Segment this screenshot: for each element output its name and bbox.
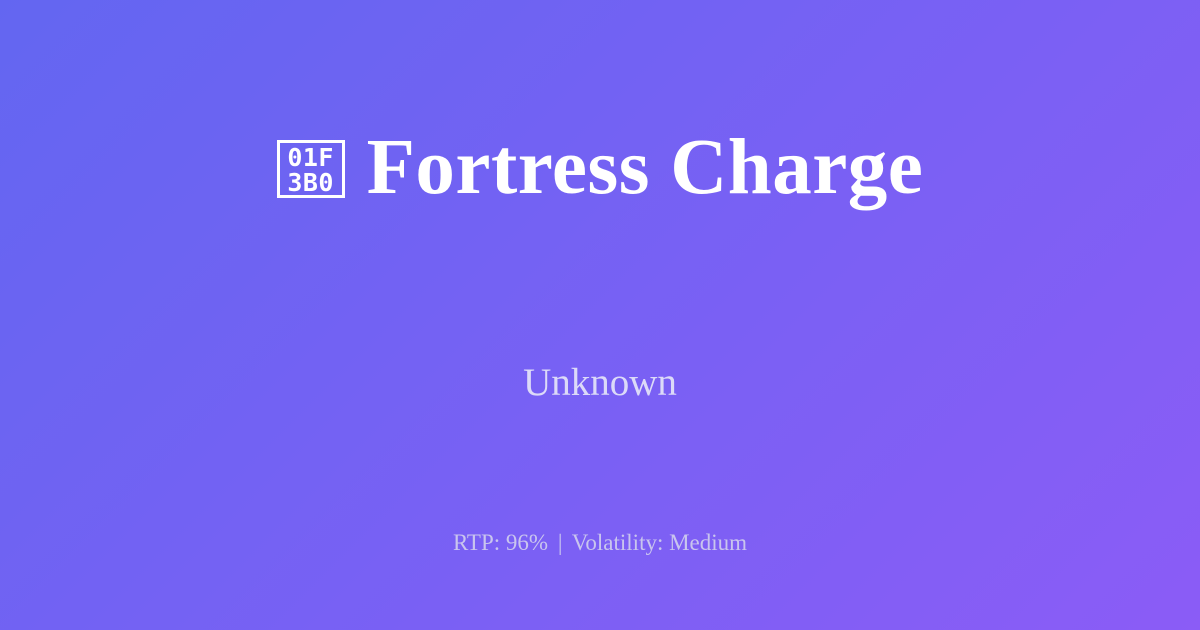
- tofu-codepoint-lower: 3B0: [287, 170, 334, 195]
- og-card: 01F 3B0 Fortress Charge Unknown RTP: 96%…: [0, 0, 1200, 630]
- meta-separator: |: [554, 530, 567, 555]
- game-meta-line: RTP: 96% | Volatility: Medium: [0, 528, 1200, 558]
- rtp-value: 96%: [506, 530, 548, 555]
- volatility-value: Medium: [669, 530, 747, 555]
- volatility-label: Volatility:: [572, 530, 664, 555]
- tofu-codepoint-upper: 01F: [287, 145, 334, 170]
- page-title: Fortress Charge: [367, 127, 924, 210]
- game-provider-subtitle: Unknown: [0, 360, 1200, 407]
- title-row: 01F 3B0 Fortress Charge: [0, 0, 1200, 320]
- slot-machine-icon: 01F 3B0: [277, 140, 345, 198]
- rtp-label: RTP:: [453, 530, 500, 555]
